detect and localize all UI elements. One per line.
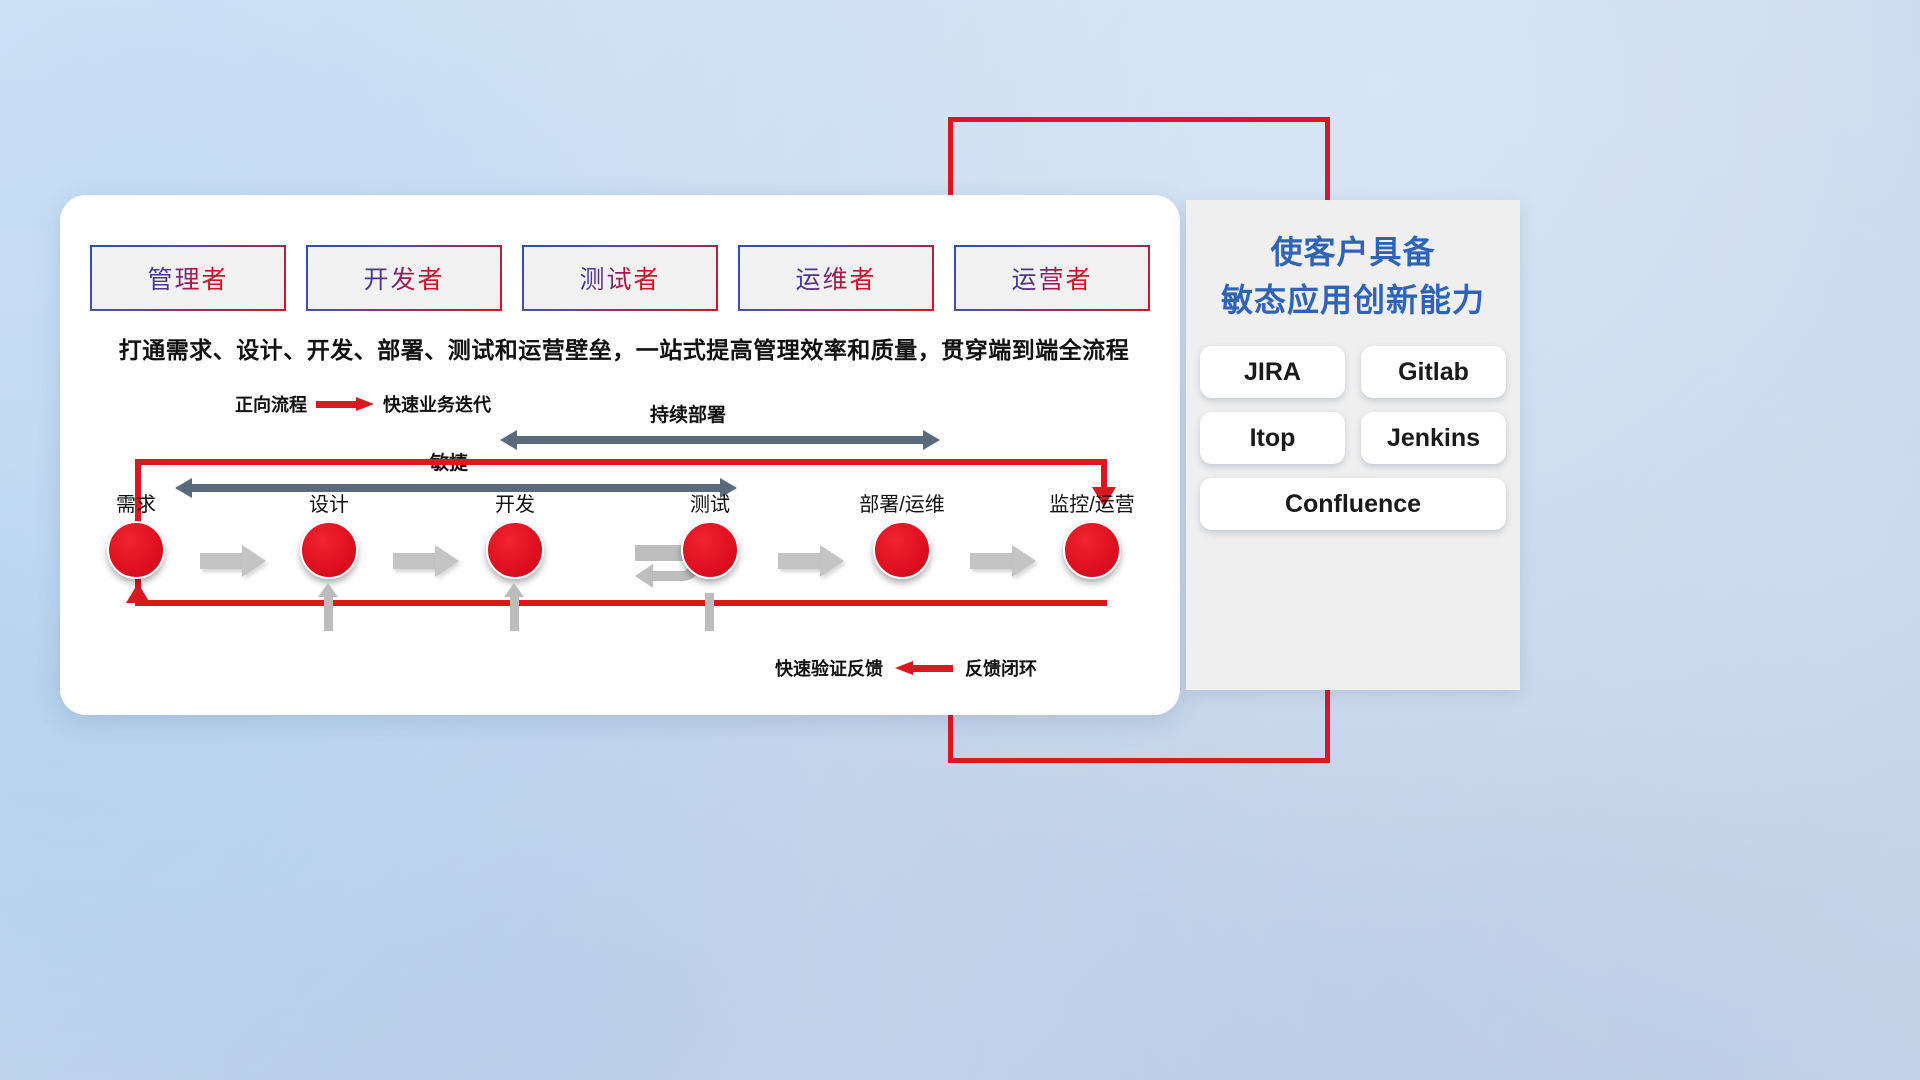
feeder-stem-development [510,593,519,631]
role-label: 运营者 [1011,260,1092,296]
legend-feedback-loop: 快速验证反馈 反馈闭环 [775,655,1037,681]
stage-monitor-operation[interactable]: 监控/运营 [1037,495,1147,579]
stage-dot-icon [1063,521,1121,579]
role-label: 管理者 [147,260,228,296]
pipeline-loop-top [135,459,1107,465]
tools-panel: 使客户具备 敏态应用创新能力 JIRA Gitlab Itop Jenkins … [1186,200,1520,690]
stage-label: 测试 [655,495,765,515]
feeder-stem-design [324,593,333,631]
stage-dot-icon [486,521,544,579]
tool-chip-confluence[interactable]: Confluence [1200,478,1506,530]
bracket-bottom-line [948,758,1330,763]
gray-arrow-right-icon [970,545,1036,577]
tool-chip-jira[interactable]: JIRA [1200,346,1345,398]
tools-grid: JIRA Gitlab Itop Jenkins Confluence [1186,346,1520,530]
red-arrow-right-icon [316,397,374,411]
tools-title-line-1: 使客户具备 [1186,228,1520,276]
tools-title-line-2: 敏态应用创新能力 [1186,276,1520,324]
role-box-ops[interactable]: 运维者 [740,247,932,309]
feeder-stem-testing [705,593,714,631]
feeder-stem-head-icon [504,583,524,597]
stage-dot-icon [107,521,165,579]
stage-label: 部署/运维 [847,495,957,515]
role-box-operator[interactable]: 运营者 [956,247,1148,309]
role-label: 运维者 [795,260,876,296]
feeder-stem-head-icon [318,583,338,597]
stage-dot-icon [873,521,931,579]
tool-chip-jenkins[interactable]: Jenkins [1361,412,1506,464]
role-box-row: 管理者 开发者 测试者 运维者 运营者 [92,247,1148,309]
stage-deploy-ops[interactable]: 部署/运维 [847,495,957,579]
legend-feedback-from-label: 反馈闭环 [965,655,1037,681]
legend-forward-flow: 正向流程 快速业务迭代 [235,391,491,417]
legend-forward-from-label: 正向流程 [235,391,307,417]
gray-arrow-right-icon [200,545,266,577]
description-text: 打通需求、设计、开发、部署、测试和运营壁垒，一站式提高管理效率和质量，贯穿端到端… [104,331,1144,365]
stage-label: 开发 [460,495,570,515]
tool-chip-itop[interactable]: Itop [1200,412,1345,464]
devops-main-card: 管理者 开发者 测试者 运维者 运营者 打通需求、设计、开发、部署、测试和运营壁… [60,195,1180,715]
pipeline-stage-row: 需求 设计 开发 测试 [60,495,1180,635]
tools-panel-title: 使客户具备 敏态应用创新能力 [1186,200,1520,324]
legend-feedback-to-label: 快速验证反馈 [775,655,883,681]
span-label-continuous-deploy: 持续部署 [650,400,726,427]
stage-design[interactable]: 设计 [274,495,384,579]
role-box-manager[interactable]: 管理者 [92,247,284,309]
stage-development[interactable]: 开发 [460,495,570,579]
stage-label: 设计 [274,495,384,515]
double-arrow-continuous-deploy-icon [500,430,940,450]
tool-chip-gitlab[interactable]: Gitlab [1361,346,1506,398]
stage-label: 需求 [81,495,191,515]
stage-requirements[interactable]: 需求 [81,495,191,579]
gray-arrow-right-icon [393,545,459,577]
role-label: 开发者 [363,260,444,296]
red-arrow-left-icon [895,661,953,675]
stage-dot-icon [300,521,358,579]
legend-forward-to-label: 快速业务迭代 [383,391,491,417]
stage-label: 监控/运营 [1037,495,1147,515]
role-label: 测试者 [579,260,660,296]
stage-testing[interactable]: 测试 [655,495,765,579]
gray-arrow-right-icon [778,545,844,577]
bracket-top-line [948,117,1330,122]
stage-dot-icon [681,521,739,579]
role-box-developer[interactable]: 开发者 [308,247,500,309]
role-box-tester[interactable]: 测试者 [524,247,716,309]
